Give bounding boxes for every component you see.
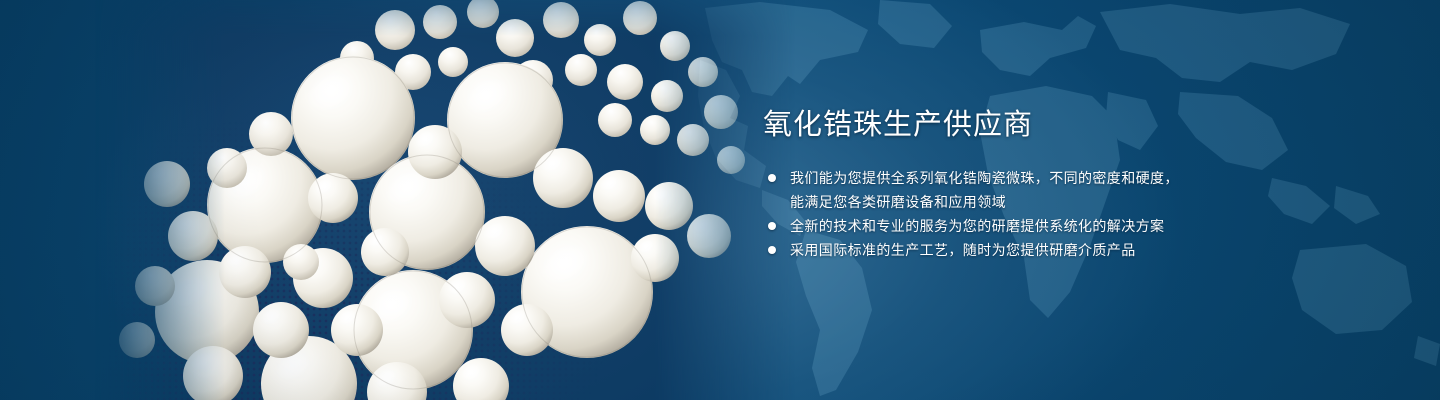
bullet-text-line1: 我们能为您提供全系列氧化锆陶瓷微珠，不同的密度和硬度， (790, 170, 1179, 186)
page-title: 氧化锆珠生产供应商 (763, 106, 1283, 144)
banner-content: 氧化锆珠生产供应商 我们能为您提供全系列氧化锆陶瓷微珠，不同的密度和硬度， 能满… (763, 106, 1283, 262)
list-item: 全新的技术和专业的服务为您的研磨提供系统化的解决方案 (763, 214, 1283, 238)
feature-list: 我们能为您提供全系列氧化锆陶瓷微珠，不同的密度和硬度， 能满足您各类研磨设备和应… (763, 166, 1283, 262)
bullet-text-line1: 全新的技术和专业的服务为您的研磨提供系统化的解决方案 (790, 218, 1164, 234)
bullet-dot-icon (768, 246, 776, 254)
list-item: 我们能为您提供全系列氧化锆陶瓷微珠，不同的密度和硬度， 能满足您各类研磨设备和应… (763, 166, 1283, 214)
list-item: 采用国际标准的生产工艺，随时为您提供研磨介质产品 (763, 238, 1283, 262)
hero-banner: 氧化锆珠生产供应商 我们能为您提供全系列氧化锆陶瓷微珠，不同的密度和硬度， 能满… (0, 0, 1440, 400)
bullet-dot-icon (768, 222, 776, 230)
product-photo-zirconia-beads (95, 0, 815, 400)
bullet-text-line2: 能满足您各类研磨设备和应用领域 (790, 190, 1283, 214)
bullet-dot-icon (768, 174, 776, 182)
bullet-text-line1: 采用国际标准的生产工艺，随时为您提供研磨介质产品 (790, 242, 1136, 258)
